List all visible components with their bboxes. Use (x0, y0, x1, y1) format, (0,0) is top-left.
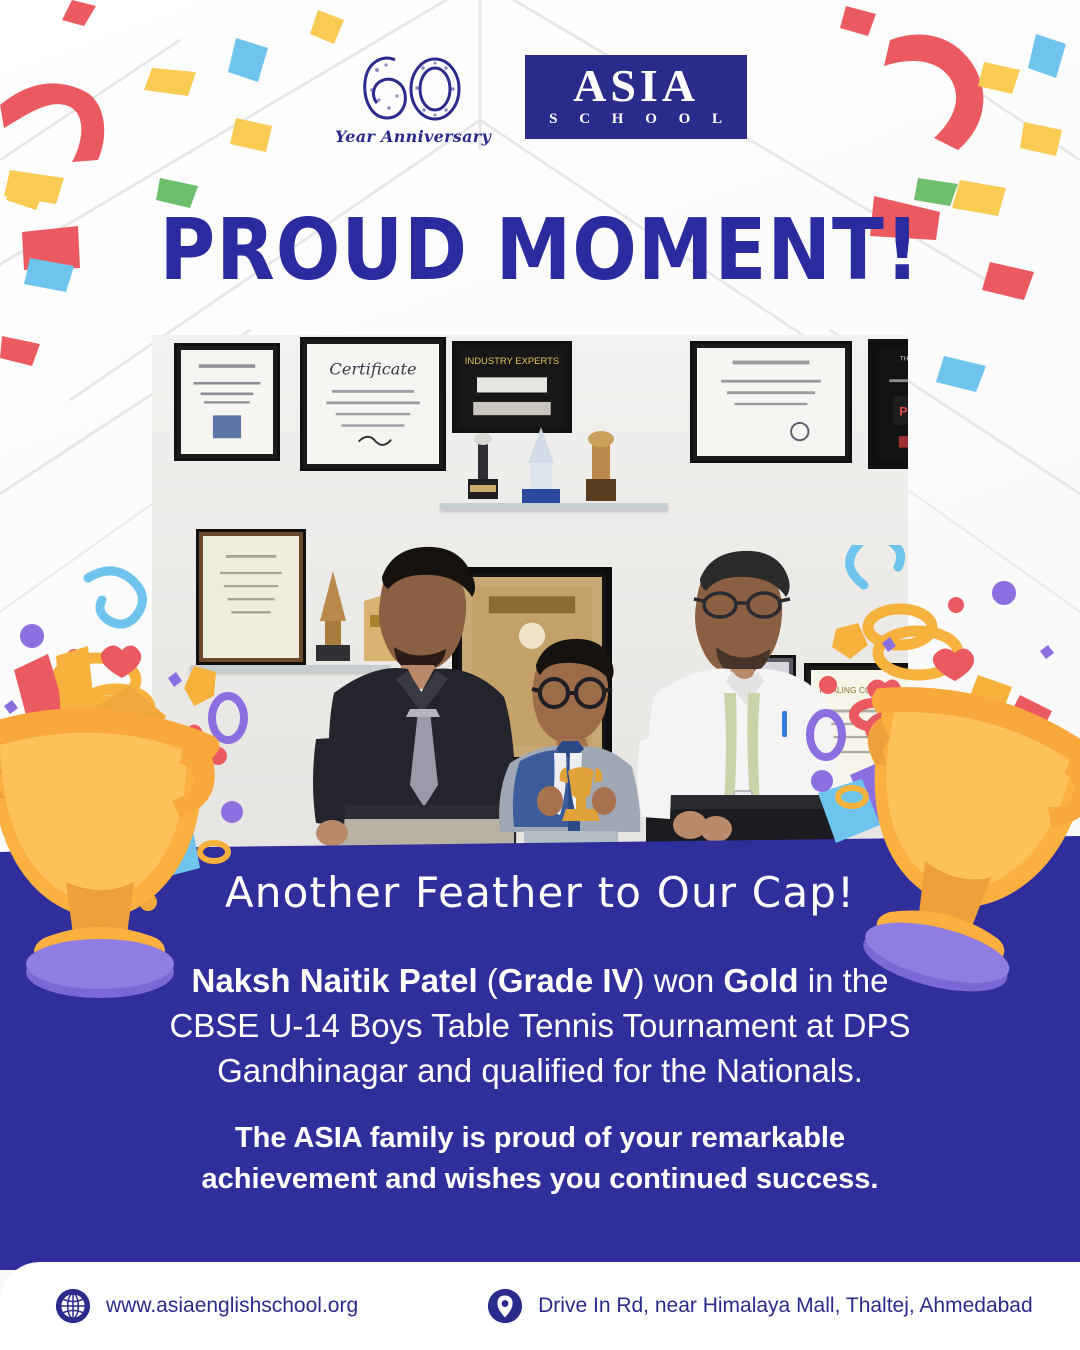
brand-name: ASIA (573, 65, 699, 107)
footer-website[interactable]: www.asiaenglishschool.org (54, 1287, 358, 1325)
footer-bar: www.asiaenglishschool.org Drive In Rd, n… (0, 1262, 1080, 1350)
anniversary-label: Year Anniversary (335, 127, 491, 146)
shelf-trophy-1 (460, 431, 506, 507)
anniversary-logo: Year Anniversary (335, 48, 491, 146)
achievement-line-2: CBSE U-14 Boys Table Tennis Tournament a… (90, 1003, 990, 1048)
achievement-line-1: Naksh Naitik Patel (Grade IV) won Gold i… (90, 958, 990, 1003)
in-the-text: in the (799, 962, 889, 999)
location-pin-icon (486, 1287, 524, 1325)
asia-school-logo: ASIA S C H O O L (527, 57, 745, 136)
header-logos: Year Anniversary ASIA S C H O O L (0, 48, 1080, 146)
closing-message: The ASIA family is proud of your remarka… (90, 1118, 990, 1200)
achievement-text: Naksh Naitik Patel (Grade IV) won Gold i… (90, 958, 990, 1093)
achievement-line-3: Gandhinagar and qualified for the Nation… (90, 1048, 990, 1093)
photo-person-right (624, 543, 854, 848)
headline-text: PROUD MOMENT! (160, 200, 921, 300)
page-title: PROUD MOMENT! (0, 205, 1080, 294)
closing-line-2: achievement and wishes you continued suc… (90, 1159, 990, 1200)
svg-text:PRINCIPAL: PRINCIPAL (899, 404, 908, 418)
student-grade: Grade IV (498, 962, 634, 999)
shelf-trophy-3 (576, 427, 626, 507)
shelf-trophy-2 (514, 423, 568, 507)
paren-open: ( (478, 962, 498, 999)
website-label: www.asiaenglishschool.org (106, 1294, 358, 1318)
address-label: Drive In Rd, near Himalaya Mall, Thaltej… (538, 1294, 1033, 1318)
student-name: Naksh Naitik Patel (192, 962, 478, 999)
closing-line-1: The ASIA family is proud of your remarka… (90, 1118, 990, 1159)
svg-text:INDUSTRY EXPERTS: INDUSTRY EXPERTS (465, 356, 559, 367)
medal-type: Gold (723, 962, 798, 999)
won-text: ) won (634, 962, 724, 999)
footer-address[interactable]: Drive In Rd, near Himalaya Mall, Thaltej… (486, 1287, 1033, 1325)
subheading-text: Another Feather to Our Cap! (225, 868, 855, 917)
svg-text:Certificate: Certificate (329, 360, 416, 379)
subheading: Another Feather to Our Cap! (0, 868, 1080, 917)
svg-text:THE ASIAN SCHOOL: THE ASIAN SCHOOL (900, 355, 908, 362)
poster-canvas: Year Anniversary ASIA S C H O O L PROUD … (0, 0, 1080, 1350)
brand-subtitle: S C H O O L (541, 111, 731, 128)
globe-icon (54, 1287, 92, 1325)
award-photo: Certificate INDUSTRY EXPERTS THE ASIAN S… (152, 335, 908, 848)
sixty-numeral-icon (353, 48, 473, 126)
